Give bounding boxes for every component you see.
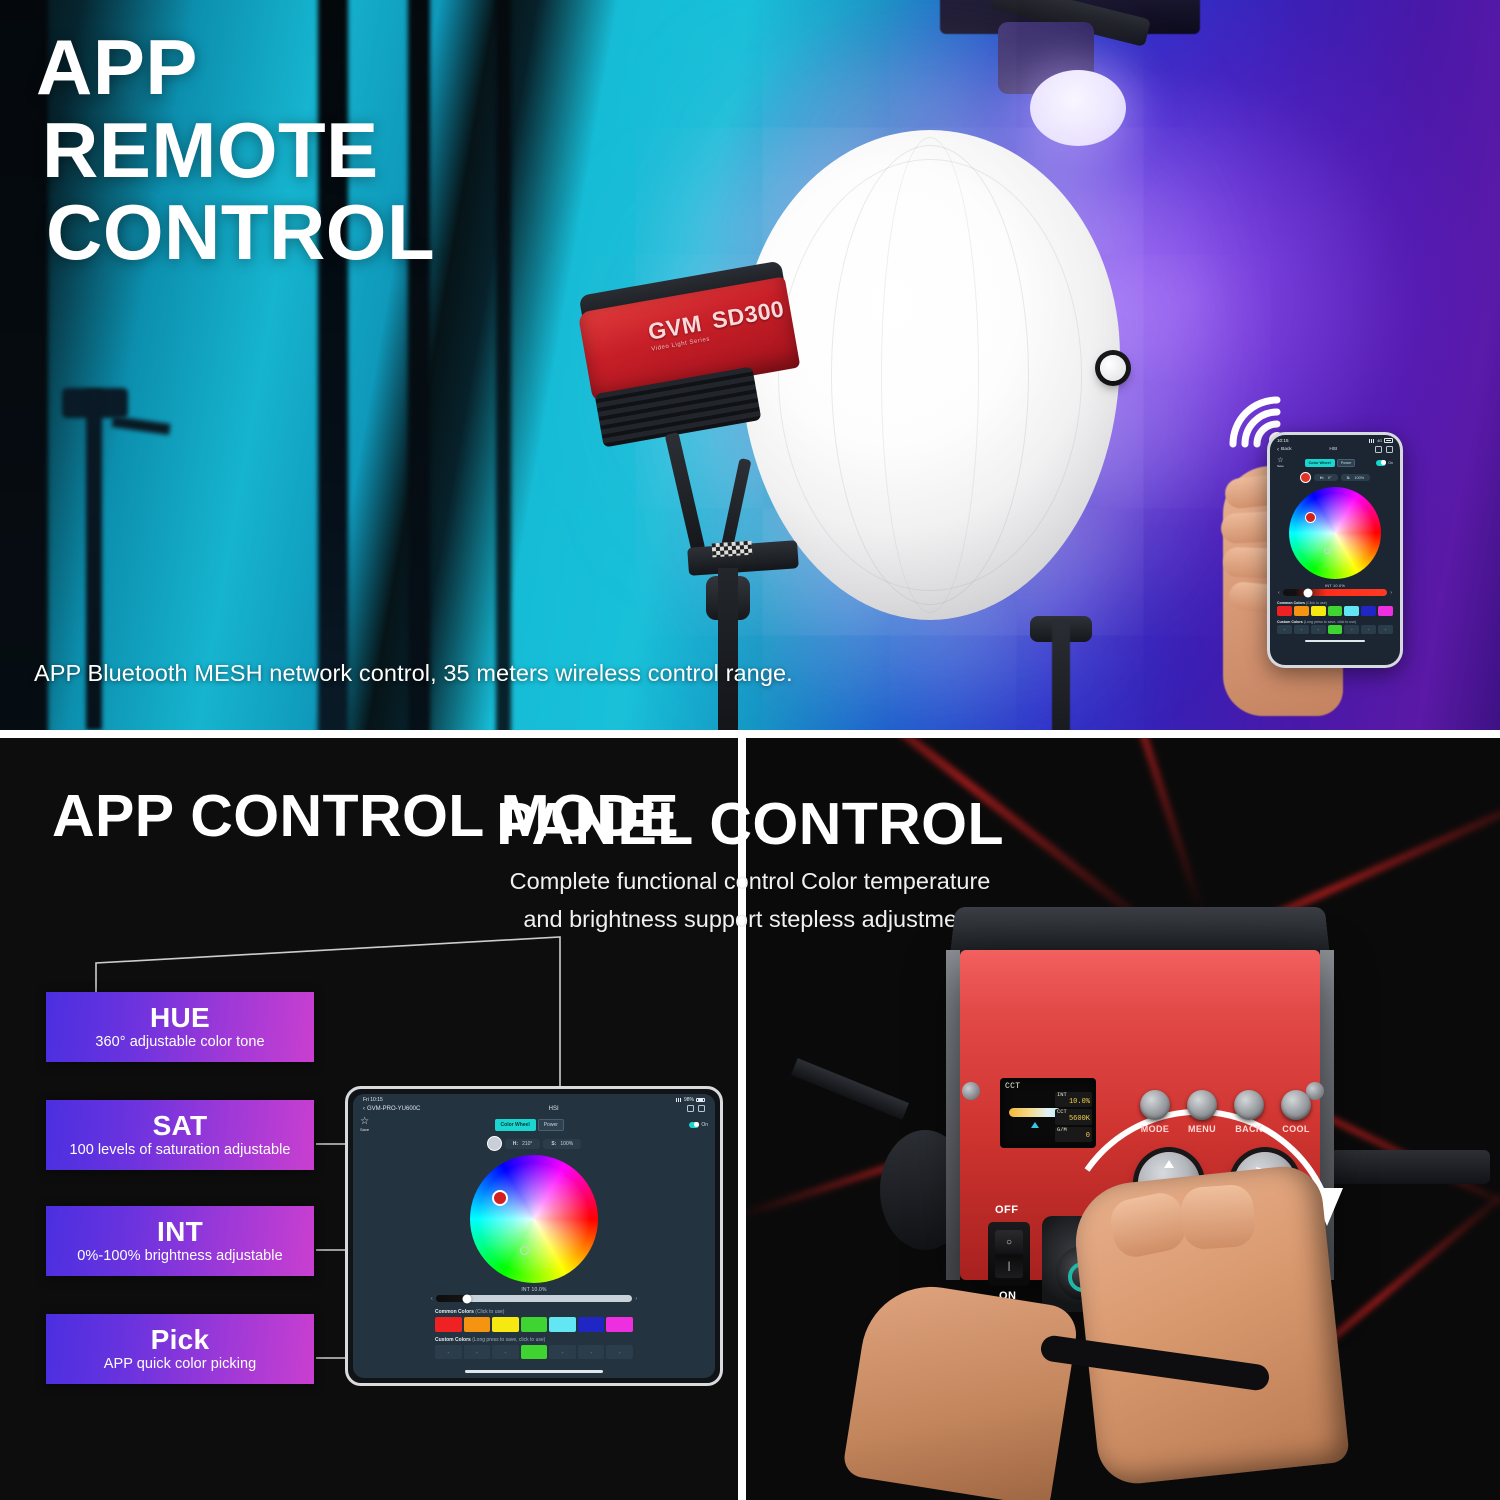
- lcd-mode-label: CCT: [1005, 1082, 1091, 1091]
- lcd-value: 0: [1057, 1133, 1090, 1141]
- status-icons: 4G: [1369, 438, 1393, 443]
- color-swatch-1[interactable]: [464, 1317, 491, 1332]
- favorite-button[interactable]: ☆ Save: [360, 1117, 369, 1132]
- sat-readout: S: 100%: [543, 1139, 581, 1149]
- button-label: MENU: [1188, 1124, 1216, 1134]
- common-colors-hint: (Click to use): [475, 1309, 504, 1315]
- light-stand-column: [718, 568, 738, 730]
- title-line-2: REMOTE: [36, 109, 676, 192]
- button-cap[interactable]: [1187, 1090, 1217, 1120]
- phone-in-hand-group: 10:15 4G ‹ Back HSI: [1205, 380, 1495, 730]
- custom-colors-title: Custom Colors: [1277, 620, 1303, 624]
- increase-icon[interactable]: ›: [1390, 590, 1392, 596]
- custom-swatch-3[interactable]: [521, 1345, 548, 1359]
- status-time: 10:15: [370, 1097, 383, 1103]
- toggle-label: On: [701, 1122, 708, 1128]
- nav-actions: [687, 1105, 705, 1112]
- intensity-slider-row[interactable]: ‹ ›: [353, 1293, 715, 1306]
- custom-swatch-5[interactable]: +: [1361, 625, 1376, 634]
- back-button[interactable]: ‹ Back: [1277, 447, 1292, 453]
- common-color-swatches[interactable]: [353, 1317, 715, 1334]
- color-swatch-3[interactable]: [1328, 606, 1343, 616]
- button-label: BACK: [1235, 1124, 1263, 1134]
- hue-value: 210°: [522, 1141, 532, 1147]
- exit-icon[interactable]: [1386, 446, 1393, 453]
- common-colors-title: Common Colors: [435, 1309, 474, 1315]
- lcd-display: CCT INT 10.0% CCT 5600K G/M 0: [1000, 1078, 1096, 1148]
- wifi-status-icon: [676, 1098, 682, 1102]
- feature-desc: APP quick color picking: [104, 1356, 256, 1372]
- feature-card-sat: SAT 100 levels of saturation adjustable: [46, 1100, 314, 1170]
- battery-icon: [1384, 438, 1393, 443]
- common-colors-title: Common Colors: [1277, 601, 1305, 605]
- mode-chips: Color Wheel Power: [1305, 459, 1356, 467]
- add-swatch-icon: +: [619, 1350, 621, 1355]
- color-swatch-6[interactable]: [1378, 606, 1393, 616]
- custom-colors-label: Custom Colors (Long press to save, click…: [353, 1334, 715, 1345]
- nav-bar: ‹ GVM-PRO-YU600C HSI: [353, 1103, 715, 1116]
- intensity-slider-thumb[interactable]: [463, 1294, 472, 1303]
- status-bar: Fri 10:15 98%: [353, 1094, 715, 1103]
- circle-icon: ○: [1006, 1237, 1012, 1248]
- custom-swatch-2[interactable]: +: [1311, 625, 1326, 634]
- nav-actions: [1375, 446, 1393, 453]
- top-panel-app-remote-control: GVM SD300 Video Light Series APP REMOTE …: [0, 0, 1500, 730]
- button-cap[interactable]: [1234, 1090, 1264, 1120]
- light-stand-arm: [1330, 1150, 1490, 1184]
- color-swatch-1[interactable]: [1294, 606, 1309, 616]
- top-panel-title: APP REMOTE CONTROL: [36, 26, 676, 274]
- back-button[interactable]: ‹ GVM-PRO-YU600C: [363, 1106, 420, 1112]
- panel-button-mode[interactable]: MODE: [1140, 1090, 1170, 1134]
- custom-swatch-5[interactable]: +: [578, 1345, 605, 1359]
- feature-name: Pick: [151, 1326, 210, 1355]
- hue-value: 0°: [1328, 476, 1332, 480]
- intensity-slider-thumb[interactable]: [1303, 588, 1312, 597]
- custom-colors-title: Custom Colors: [435, 1337, 471, 1343]
- checker-marker: [712, 541, 753, 558]
- button-cap[interactable]: [1140, 1090, 1170, 1120]
- increase-icon[interactable]: ›: [635, 1296, 637, 1302]
- sat-key: S:: [551, 1141, 556, 1147]
- button-label: MODE: [1141, 1124, 1170, 1134]
- add-swatch-icon: +: [1351, 627, 1353, 632]
- feature-desc: 360° adjustable color tone: [95, 1034, 264, 1050]
- power-toggle[interactable]: On: [689, 1122, 708, 1128]
- infographic-page: GVM SD300 Video Light Series APP REMOTE …: [0, 0, 1500, 1500]
- common-colors-label: Common Colors (Click to use): [353, 1306, 715, 1317]
- custom-swatch-2[interactable]: +: [492, 1345, 519, 1359]
- custom-color-swatches[interactable]: ++++++: [1270, 625, 1400, 637]
- overhead-light-lens: [1030, 70, 1126, 146]
- panel-button-row: MODE MENU BACK COOL: [1140, 1090, 1311, 1134]
- power-switch-off-label: OFF: [995, 1204, 1019, 1216]
- add-swatch-icon: +: [447, 1350, 449, 1355]
- background-light-arm: [112, 416, 171, 435]
- color-wheel[interactable]: [1289, 487, 1381, 579]
- panel-button-menu[interactable]: MENU: [1187, 1090, 1217, 1134]
- sat-readout: S: 100%: [1341, 474, 1371, 481]
- power-toggle[interactable]: On: [1376, 460, 1393, 466]
- decrease-icon[interactable]: ‹: [1278, 590, 1280, 596]
- color-swatch-2[interactable]: [1311, 606, 1326, 616]
- intensity-slider-track[interactable]: [1283, 589, 1388, 596]
- feature-name: INT: [157, 1218, 203, 1247]
- color-wheel-selector[interactable]: [492, 1190, 508, 1206]
- battery-percent: 98%: [684, 1097, 694, 1103]
- add-swatch-icon: +: [1283, 627, 1285, 632]
- custom-swatch-3[interactable]: [1328, 625, 1343, 634]
- back-label: Back: [1281, 447, 1292, 452]
- custom-swatch-6[interactable]: +: [606, 1345, 633, 1359]
- smartphone: 10:15 4G ‹ Back HSI: [1267, 432, 1403, 668]
- lcd-row-int: INT 10.0%: [1055, 1092, 1092, 1107]
- light-side-rail: [946, 950, 960, 1280]
- color-swatch-4[interactable]: [1344, 606, 1359, 616]
- sat-value: 100%: [1354, 476, 1364, 480]
- mode-chips: Color Wheel Power: [495, 1119, 564, 1131]
- softbox-vent-knob: [1100, 355, 1126, 381]
- custom-swatch-0[interactable]: +: [1277, 625, 1292, 634]
- color-swatch-6[interactable]: [606, 1317, 633, 1332]
- nav-bar: ‹ Back HSI: [1270, 444, 1400, 456]
- subtitle-line-1: Complete functional control Color temper…: [0, 862, 1500, 900]
- sat-value: 100%: [560, 1141, 573, 1147]
- color-swatch-2[interactable]: [492, 1317, 519, 1332]
- custom-swatch-0[interactable]: +: [435, 1345, 462, 1359]
- hue-key: H:: [1320, 476, 1324, 480]
- title-line-1: APP: [36, 26, 676, 109]
- panel-button-back[interactable]: BACK: [1234, 1090, 1264, 1134]
- home-indicator: [1305, 640, 1365, 642]
- color-swatch-4[interactable]: [549, 1317, 576, 1332]
- feature-card-pick: Pick APP quick color picking: [46, 1314, 314, 1384]
- signal-icon: [1369, 439, 1375, 443]
- button-cap[interactable]: [1281, 1090, 1311, 1120]
- hsi-readout-row: H: 0° S: 100%: [1270, 470, 1400, 486]
- intensity-slider-track[interactable]: [436, 1295, 633, 1302]
- save-label: Save: [1277, 464, 1284, 468]
- lcd-row-cct: CCT 5600K: [1055, 1109, 1092, 1124]
- top-panel-caption: APP Bluetooth MESH network control, 35 m…: [34, 660, 793, 687]
- current-color-dot: [487, 1136, 502, 1151]
- custom-swatch-1[interactable]: +: [464, 1345, 491, 1359]
- add-swatch-icon: +: [1317, 627, 1319, 632]
- phone-app-screen: 10:15 4G ‹ Back HSI: [1270, 435, 1400, 665]
- toolbar: ☆ Save Color Wheel Power On: [353, 1116, 715, 1134]
- add-swatch-icon: +: [1384, 627, 1386, 632]
- sat-key: S:: [1347, 476, 1351, 480]
- color-wheel-container[interactable]: [353, 1154, 715, 1285]
- add-swatch-icon: +: [1368, 627, 1370, 632]
- feature-desc: 0%-100% brightness adjustable: [77, 1248, 282, 1264]
- line-icon: |: [1008, 1261, 1011, 1272]
- feature-card-int: INT 0%-100% brightness adjustable: [46, 1206, 314, 1276]
- color-wheel-secondary-marker[interactable]: [1324, 548, 1330, 554]
- add-swatch-icon: +: [476, 1350, 478, 1355]
- color-swatch-5[interactable]: [1361, 606, 1376, 616]
- custom-swatch-6[interactable]: +: [1378, 625, 1393, 634]
- custom-swatch-1[interactable]: +: [1294, 625, 1309, 634]
- custom-colors-label: Custom Colors (Long press to save, click…: [1270, 618, 1400, 625]
- decrease-icon[interactable]: ‹: [431, 1296, 433, 1302]
- save-label: Save: [360, 1127, 369, 1132]
- lcd-row-gm: G/M 0: [1055, 1127, 1092, 1142]
- status-datetime: Fri 10:15: [363, 1097, 383, 1103]
- save-preset-icon[interactable]: [1375, 446, 1382, 453]
- color-wheel-secondary-marker[interactable]: [520, 1246, 529, 1255]
- title-line-3: CONTROL: [36, 191, 676, 274]
- color-wheel-selector[interactable]: [1305, 512, 1316, 523]
- network-label: 4G: [1377, 439, 1382, 443]
- save-preset-icon[interactable]: [687, 1105, 694, 1112]
- lcd-cct-bar: [1009, 1108, 1061, 1117]
- feature-name: SAT: [153, 1112, 208, 1141]
- color-swatch-0[interactable]: [1277, 606, 1292, 616]
- lcd-value: 5600K: [1057, 1116, 1090, 1124]
- screen-title: HSI: [1329, 447, 1337, 452]
- light-yoke-left: [665, 432, 706, 552]
- tablet-device: Fri 10:15 98% ‹ GVM-PRO-YU600C HSI: [345, 1086, 723, 1386]
- rocker-switch[interactable]: ○ |: [995, 1230, 1023, 1278]
- chevron-left-icon: ‹: [1277, 447, 1279, 453]
- star-icon: ☆: [1277, 457, 1283, 464]
- color-swatch-3[interactable]: [521, 1317, 548, 1332]
- status-time: 10:15: [1277, 438, 1289, 443]
- panel-control-title: PANEL CONTROL: [0, 790, 1500, 858]
- supporting-hand: [842, 1277, 1081, 1500]
- second-stand-column: [1052, 620, 1070, 730]
- add-swatch-icon: +: [590, 1350, 592, 1355]
- lcd-cct-pointer-icon: [1031, 1122, 1039, 1128]
- color-wheel[interactable]: [470, 1155, 598, 1283]
- color-wheel-container[interactable]: [1270, 486, 1400, 581]
- common-colors-hint: (Click to use): [1306, 601, 1327, 605]
- custom-swatch-4[interactable]: +: [1344, 625, 1359, 634]
- chip-color-wheel[interactable]: Color Wheel: [1305, 459, 1335, 467]
- tablet-app-screen: Fri 10:15 98% ‹ GVM-PRO-YU600C HSI: [353, 1094, 715, 1378]
- feature-card-hue: HUE 360° adjustable color tone: [46, 992, 314, 1062]
- power-switch[interactable]: ○ |: [988, 1222, 1030, 1286]
- add-swatch-icon: +: [1300, 627, 1302, 632]
- custom-colors-hint: (Long press to save, click to use): [1304, 620, 1357, 624]
- knob-indicator-icon: [1164, 1160, 1174, 1168]
- star-icon: ☆: [360, 1117, 369, 1127]
- status-bar: 10:15 4G: [1270, 435, 1400, 444]
- lcd-values: INT 10.0% CCT 5600K G/M 0: [1055, 1092, 1092, 1144]
- softbox-seam: [881, 137, 980, 612]
- common-colors-label: Common Colors (Click to use): [1270, 599, 1400, 606]
- toggle-label: On: [1388, 461, 1393, 465]
- current-color-dot: [1300, 472, 1311, 483]
- hsi-readout-row: H: 210° S: 100%: [353, 1134, 715, 1154]
- feature-desc: 100 levels of saturation adjustable: [69, 1142, 290, 1158]
- battery-icon: [696, 1098, 705, 1103]
- hue-readout: H: 210°: [505, 1139, 541, 1149]
- hue-readout: H: 0°: [1314, 474, 1338, 481]
- button-label: COOL: [1282, 1124, 1310, 1134]
- chip-power[interactable]: Power: [1337, 459, 1356, 467]
- color-swatch-5[interactable]: [578, 1317, 605, 1332]
- chip-power[interactable]: Power: [538, 1119, 564, 1131]
- common-color-swatches[interactable]: [1270, 606, 1400, 618]
- chip-color-wheel[interactable]: Color Wheel: [495, 1119, 536, 1131]
- toolbar: ☆ Save Color Wheel Power On: [1270, 456, 1400, 470]
- toggle-switch[interactable]: [689, 1122, 699, 1128]
- chevron-left-icon: ‹: [363, 1106, 365, 1112]
- device-name: GVM-PRO-YU600C: [367, 1106, 420, 1112]
- home-indicator: [465, 1370, 603, 1373]
- exit-icon[interactable]: [698, 1105, 705, 1112]
- panel-button-cool[interactable]: COOL: [1281, 1090, 1311, 1134]
- intensity-slider-row[interactable]: ‹ ›: [1270, 588, 1400, 599]
- panel-screw: [962, 1082, 980, 1100]
- hue-key: H:: [513, 1141, 518, 1147]
- custom-swatch-4[interactable]: +: [549, 1345, 576, 1359]
- finger: [1180, 1184, 1256, 1251]
- status-icons: 98%: [676, 1097, 705, 1103]
- feature-name: HUE: [150, 1004, 210, 1033]
- toggle-switch[interactable]: [1376, 460, 1386, 466]
- favorite-button[interactable]: ☆ Save: [1277, 457, 1284, 468]
- custom-colors-hint: (Long press to save, click to use): [472, 1337, 545, 1343]
- status-date: Fri: [363, 1097, 369, 1103]
- lcd-value: 10.0%: [1057, 1099, 1090, 1107]
- add-swatch-icon: +: [504, 1350, 506, 1355]
- color-swatch-0[interactable]: [435, 1317, 462, 1332]
- add-swatch-icon: +: [561, 1350, 563, 1355]
- screen-title: HSI: [549, 1106, 559, 1112]
- custom-color-swatches[interactable]: ++++++: [353, 1345, 715, 1362]
